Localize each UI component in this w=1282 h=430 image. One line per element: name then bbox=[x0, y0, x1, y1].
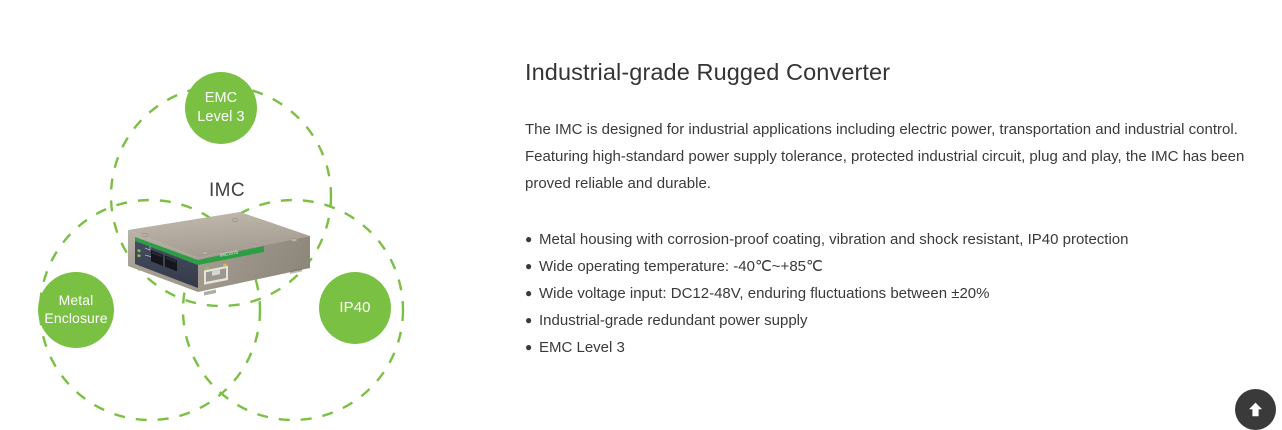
badge-emc-line1: EMC bbox=[205, 89, 238, 108]
bullet-icon: ● bbox=[525, 307, 539, 334]
list-item-label: Wide operating temperature: -40℃~+85℃ bbox=[539, 258, 823, 275]
product-feature-section: IMC1618 bbox=[0, 0, 1282, 430]
badge-ip40-line1: IP40 bbox=[339, 298, 370, 317]
diagram-center-label: IMC bbox=[182, 180, 272, 202]
list-item: ●EMC Level 3 bbox=[525, 334, 1128, 361]
bullet-icon: ● bbox=[525, 253, 539, 280]
feature-list: ●Metal housing with corrosion-proof coat… bbox=[525, 226, 1128, 361]
product-copy: Industrial-grade Rugged Converter The IM… bbox=[525, 0, 1270, 430]
badge-metal-line1: Metal bbox=[59, 292, 94, 310]
page-title: Industrial-grade Rugged Converter bbox=[525, 59, 890, 86]
list-item: ●Wide operating temperature: -40℃~+85℃ bbox=[525, 253, 1128, 280]
scroll-to-top-button[interactable] bbox=[1235, 389, 1276, 430]
list-item-label: Metal housing with corrosion-proof coati… bbox=[539, 231, 1128, 248]
bullet-icon: ● bbox=[525, 226, 539, 253]
arrow-up-icon bbox=[1246, 400, 1265, 419]
list-item: ●Wide voltage input: DC12-48V, enduring … bbox=[525, 280, 1128, 307]
bullet-icon: ● bbox=[525, 280, 539, 307]
badge-emc-line2: Level 3 bbox=[197, 108, 244, 127]
list-item-label: Industrial-grade redundant power supply bbox=[539, 312, 808, 329]
list-item: ●Metal housing with corrosion-proof coat… bbox=[525, 226, 1128, 253]
badge-ip40: IP40 bbox=[319, 272, 391, 344]
intro-paragraph: The IMC is designed for industrial appli… bbox=[525, 116, 1269, 197]
badge-metal-enclosure: Metal Enclosure bbox=[38, 272, 114, 348]
badge-emc-level-3: EMC Level 3 bbox=[185, 72, 257, 144]
bullet-icon: ● bbox=[525, 334, 539, 361]
list-item: ●Industrial-grade redundant power supply bbox=[525, 307, 1128, 334]
badge-metal-line2: Enclosure bbox=[44, 310, 107, 328]
list-item-label: EMC Level 3 bbox=[539, 339, 625, 356]
imc-device-illustration: IMC1618 bbox=[104, 208, 310, 308]
list-item-label: Wide voltage input: DC12-48V, enduring f… bbox=[539, 285, 989, 302]
imc-feature-diagram: IMC1618 bbox=[0, 0, 500, 430]
